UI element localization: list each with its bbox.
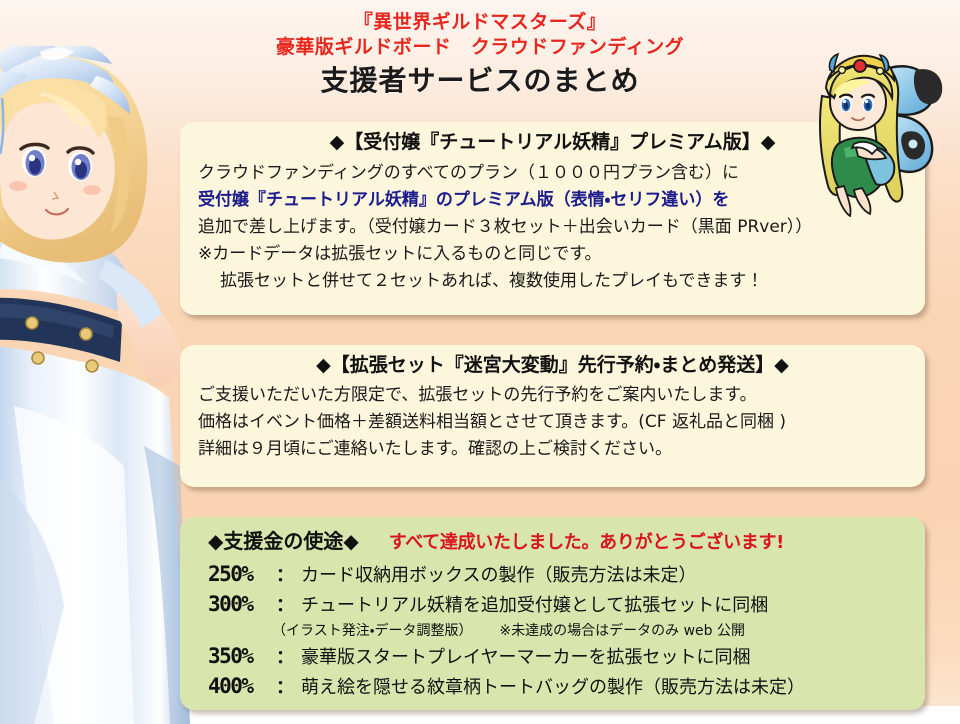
goal-text-300: チュートリアル妖精を追加受付嬢として拡張セットに同梱 [301, 591, 768, 620]
panel-expansion-preorder: ◆【拡張セット『迷宮大変動』先行予約・まとめ発送】◆ ご支援いただいた方限定で、… [180, 345, 925, 487]
goal-colon: ： [274, 561, 301, 590]
funding-achieved-notice: すべて達成いたしました。ありがとうございます! [389, 528, 784, 554]
funding-heading-label: ◆支援金の使途◆ [208, 525, 359, 554]
goal-text-250: カード収納用ボックスの製作（販売方法は未定） [301, 561, 696, 590]
funding-goal-row: 350% ： 豪華版スタートプレイヤーマーカーを拡張セットに同梱 [208, 642, 925, 672]
panel-1-line-3: 追加で差し上げます。（受付嬢カード３枚セット＋出会いカード（黒面 PRver）） [198, 214, 925, 241]
header-series-title: 『異世界ギルドマスターズ』 [0, 10, 960, 35]
goal-colon: ： [274, 643, 301, 672]
panel-2-line-2: 価格はイベント価格＋差額送料相当額とさせて頂きます。(CF 返礼品と同梱 ) [198, 409, 925, 436]
tutorial-fairy-illustration [800, 52, 950, 217]
goal-note-300-b: ※未達成の場合はデータのみ web 公開 [499, 623, 745, 639]
goal-percent-400: 400% [208, 672, 274, 701]
panel-1-line-5: 拡張セットと併せて２セットあれば、複数使用したプレイもできます！ [198, 268, 925, 295]
goal-percent-300: 300% [208, 590, 274, 619]
goal-percent-350: 350% [208, 642, 274, 671]
funding-goal-list: 250% ： カード収納用ボックスの製作（販売方法は未定） 300% ： チュー… [180, 554, 925, 702]
panel-funding-usage: ◆支援金の使途◆ すべて達成いたしました。ありがとうございます! 250% ： … [180, 517, 925, 710]
goal-colon: ： [274, 673, 301, 702]
panel-2-body: ご支援いただいた方限定で、拡張セットの先行予約をご案内いたします。 価格はイベン… [180, 378, 925, 463]
panel-2-line-1: ご支援いただいた方限定で、拡張セットの先行予約をご案内いたします。 [198, 382, 925, 409]
goal-colon: ： [274, 591, 301, 620]
goal-note-300-a: （イラスト発注・データ調整版） [272, 623, 472, 639]
goal-text-350: 豪華版スタートプレイヤーマーカーを拡張セットに同梱 [301, 643, 750, 672]
goal-note-300: （イラスト発注・データ調整版） ※未達成の場合はデータのみ web 公開 [208, 620, 925, 642]
panel-2-title: ◆【拡張セット『迷宮大変動』先行予約・まとめ発送】◆ [180, 345, 925, 378]
funding-goal-row: 400% ： 萌え絵を隠せる紋章柄トートバッグの製作（販売方法は未定） [208, 672, 925, 702]
panel-1-line-4: ※カードデータは拡張セットに入るものと同じです。 [198, 241, 925, 268]
goal-percent-250: 250% [208, 560, 274, 589]
funding-heading: ◆支援金の使途◆ すべて達成いたしました。ありがとうございます! [180, 517, 925, 554]
funding-goal-row: 250% ： カード収納用ボックスの製作（販売方法は未定） [208, 560, 925, 590]
funding-goal-row: 300% ： チュートリアル妖精を追加受付嬢として拡張セットに同梱 [208, 590, 925, 620]
panel-2-line-3: 詳細は９月頃にご連絡いたします。確認の上ご検討ください。 [198, 436, 925, 463]
poster-canvas: 『異世界ギルドマスターズ』 豪華版ギルドボード クラウドファンディング 支援者サ… [0, 0, 960, 724]
goal-text-400: 萌え絵を隠せる紋章柄トートバッグの製作（販売方法は未定） [301, 673, 805, 702]
